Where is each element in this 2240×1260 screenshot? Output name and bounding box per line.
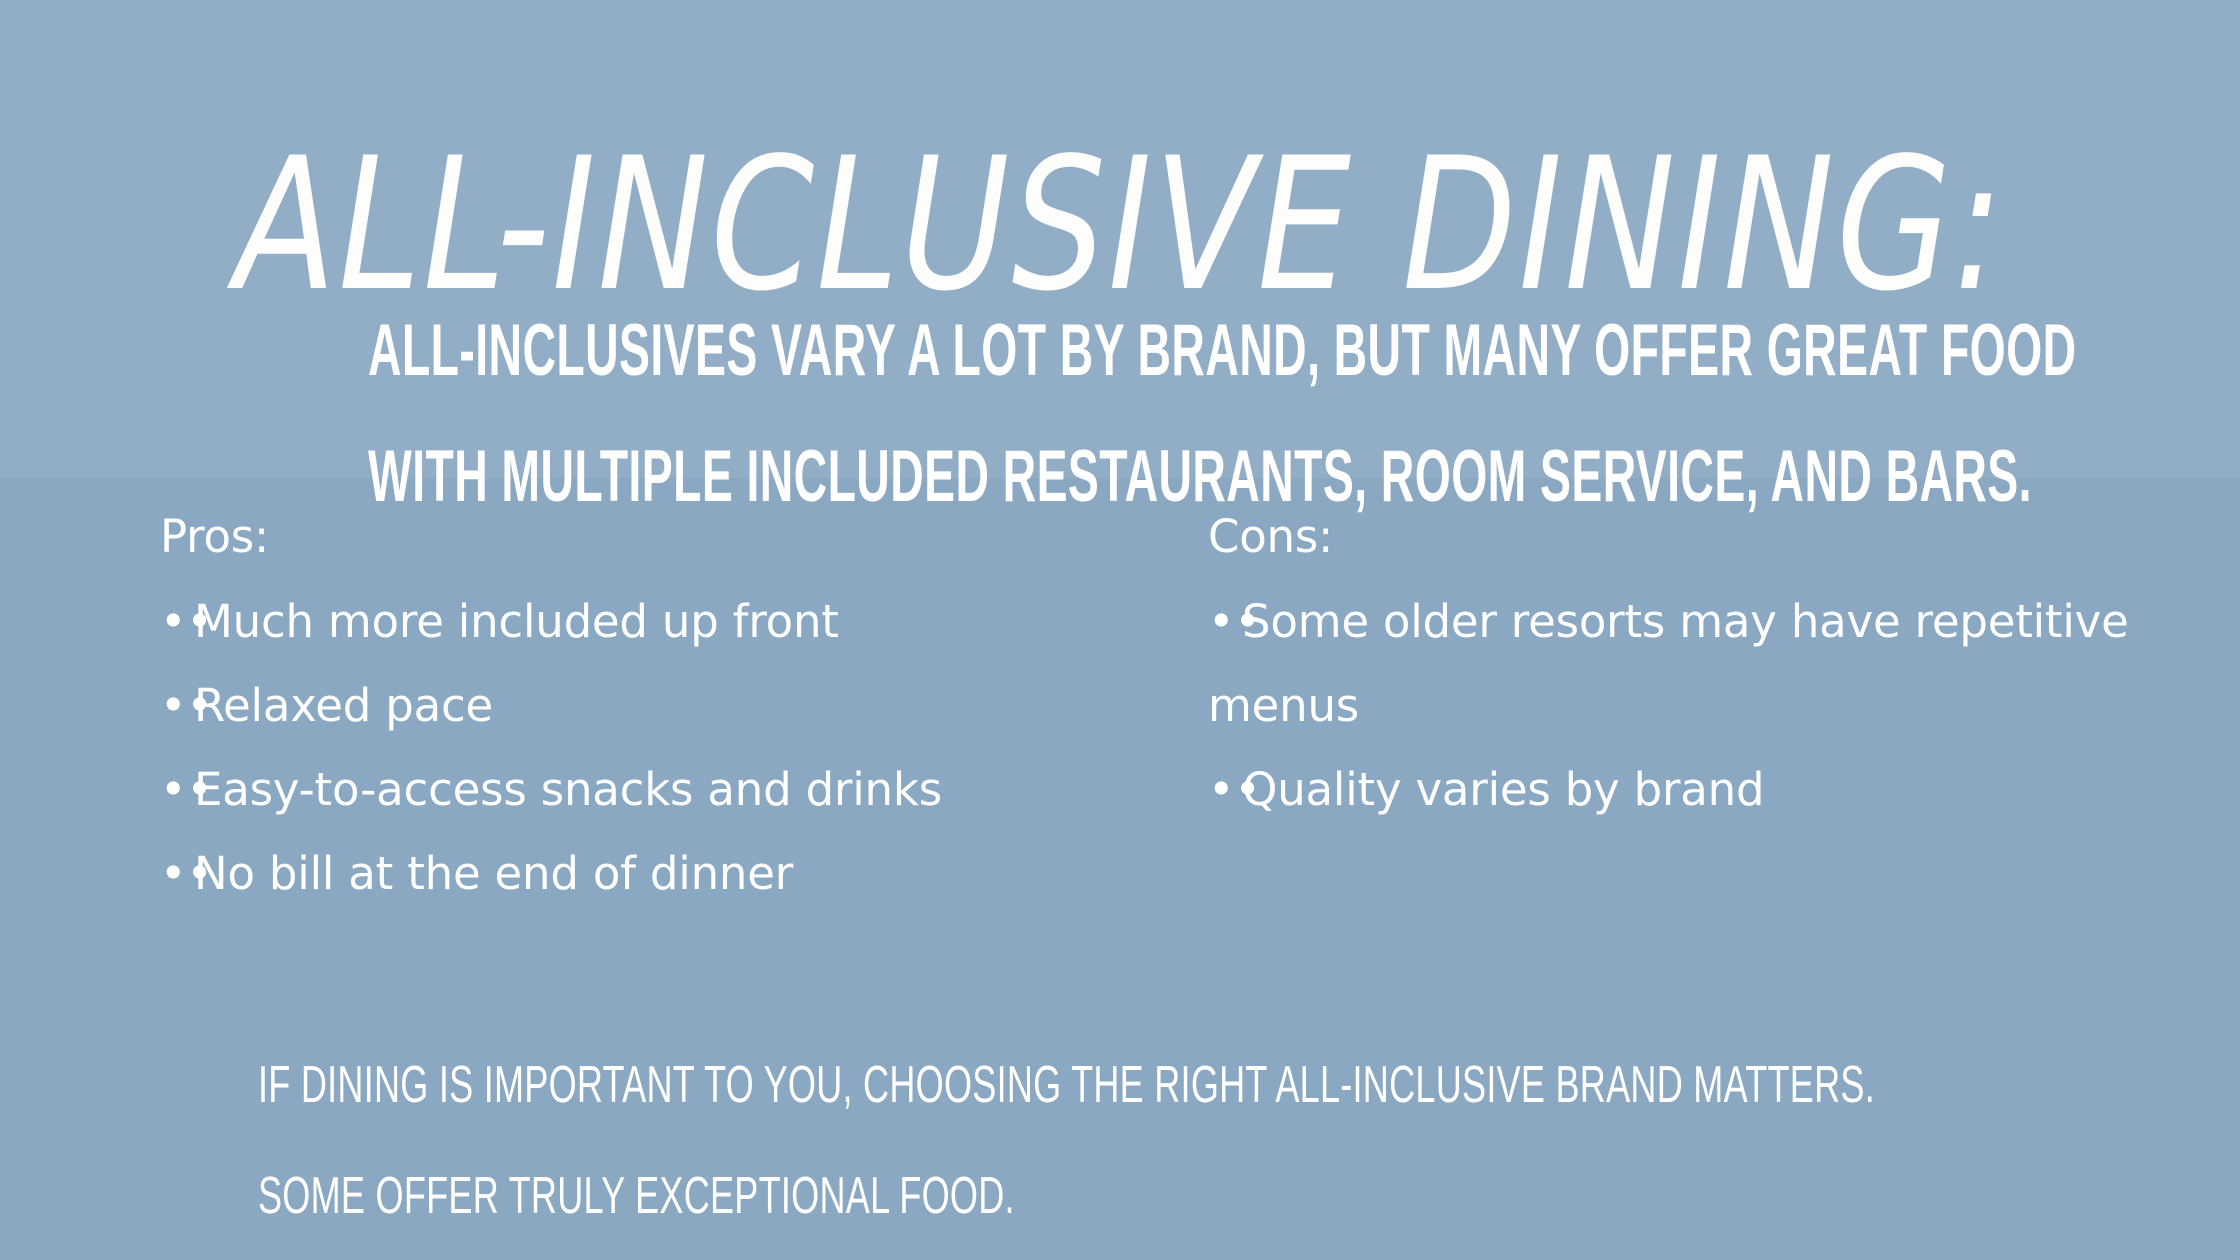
bullet-icon: • [160, 832, 194, 916]
pros-item-label: Relaxed pace [194, 679, 493, 732]
footer-note: IF DINING IS IMPORTANT TO YOU, CHOOSING … [258, 1030, 1718, 1252]
pros-item-label: No bill at the end of dinner [194, 847, 793, 900]
list-item: •Easy-to-access snacks and drinks [160, 748, 1170, 832]
cons-item-label: Quality varies by brand [1242, 763, 1764, 816]
bullet-icon: • [160, 664, 194, 748]
pros-list: •Much more included up front •Relaxed pa… [160, 580, 1170, 916]
pros-item-label: Much more included up front [194, 595, 839, 648]
slide-canvas: ALL-INCLUSIVE DINING: ALL-INCLUSIVES VAR… [0, 0, 2240, 1260]
pros-heading: Pros: [160, 498, 1170, 576]
list-item: •Relaxed pace [160, 664, 1170, 748]
bullet-icon: • [1208, 580, 1242, 664]
list-item: •Quality varies by brand [1208, 748, 2208, 832]
cons-item-label: Some older resorts may have repetitive m… [1208, 595, 2129, 732]
cons-heading: Cons: [1208, 498, 2208, 576]
subtitle-line-1: ALL-INCLUSIVES VARY A LOT BY BRAND, BUT … [368, 288, 1872, 414]
pros-item-label: Easy-to-access snacks and drinks [194, 763, 942, 816]
cons-column: Cons: •Some older resorts may have repet… [1208, 498, 2208, 832]
footer-line-1: IF DINING IS IMPORTANT TO YOU, CHOOSING … [258, 1030, 1718, 1141]
list-item: •Some older resorts may have repetitive … [1208, 580, 2208, 748]
pros-column: Pros: •Much more included up front •Rela… [160, 498, 1170, 916]
list-item: •No bill at the end of dinner [160, 832, 1170, 916]
bullet-icon: • [160, 580, 194, 664]
bullet-icon: • [160, 748, 194, 832]
bullet-icon: • [1208, 748, 1242, 832]
list-item: •Much more included up front [160, 580, 1170, 664]
footer-line-2: SOME OFFER TRULY EXCEPTIONAL FOOD. [258, 1141, 1718, 1252]
cons-list: •Some older resorts may have repetitive … [1208, 580, 2208, 832]
